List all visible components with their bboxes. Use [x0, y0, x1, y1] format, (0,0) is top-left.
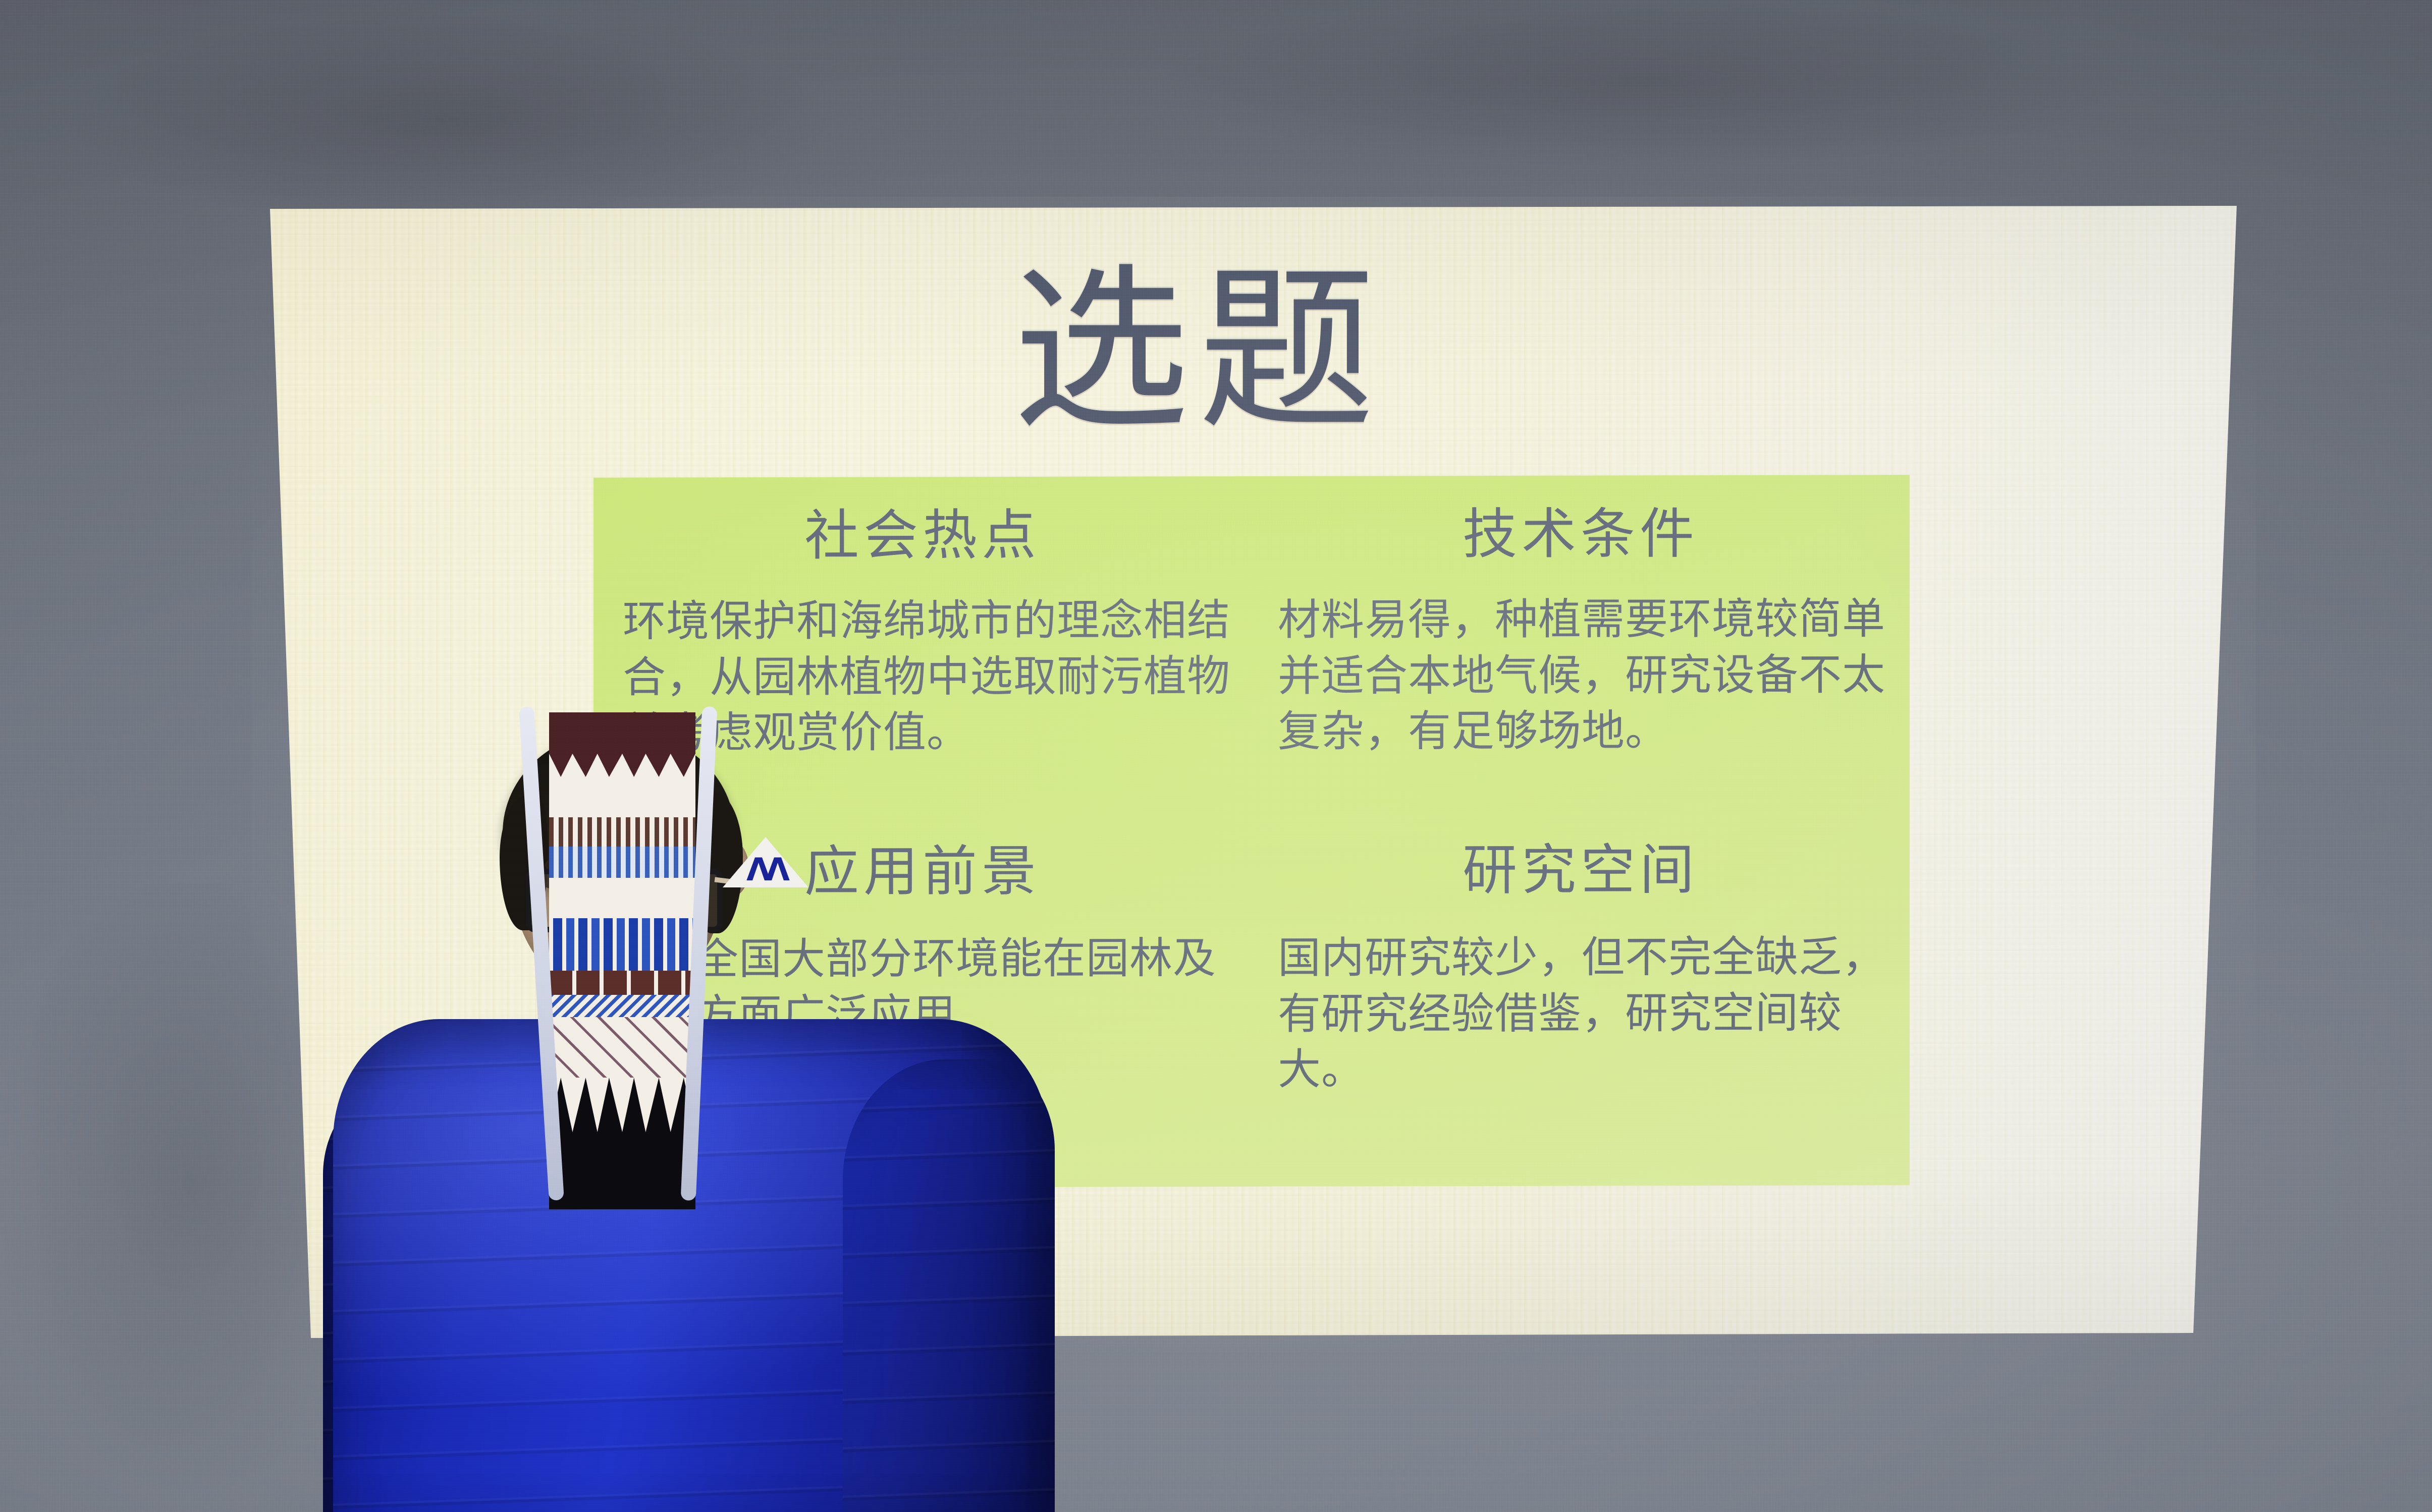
cell-body-technical-conditions: 材料易得，种植需要环境较简单并适合本地气候，研究设备不太复杂，有足够场地。: [1252, 592, 1910, 760]
sweater-band-diamonds: [549, 1017, 695, 1078]
cell-heading-research-space: 研究空间: [1252, 841, 1910, 900]
sweater-band-maroon: [549, 712, 695, 777]
sweater-band-blue-dots: [549, 847, 695, 878]
jacket-sleeve-right: [843, 1059, 1055, 1512]
cell-heading-social-hotspot: 社会热点: [593, 507, 1252, 565]
cell-heading-technical-conditions: 技术条件: [1252, 505, 1910, 564]
cell-research-space: 研究空间 国内研究较少，但不完全缺乏，有研究经验借鉴，研究空间较大。: [1252, 830, 1910, 1187]
sleeve-quilting-right: [843, 1059, 1055, 1512]
sweater-band-bricks: [549, 971, 695, 995]
presenter-person: ΛΛ: [333, 706, 1090, 1512]
sweater-band-cream-2: [549, 878, 695, 918]
sweater-band-black: [549, 1078, 695, 1209]
jacket-logo-icon: ΛΛ: [732, 856, 799, 884]
wall-shadow-top-right: [1161, 0, 2120, 166]
wall-shadow-top-left: [71, 15, 828, 227]
cell-technical-conditions: 技术条件 材料易得，种植需要环境较简单并适合本地气候，研究设备不太复杂，有足够场…: [1252, 475, 1910, 831]
sweater-band-brown-dots: [549, 817, 695, 847]
presentation-photo-scene: 选题 社会热点 环境保护和海绵城市的理念相结合，从园林植物中选取耐污植物并考虑观…: [0, 0, 2432, 1512]
slide-title: 选题: [0, 262, 2414, 439]
sweater-band-triangles: [549, 918, 695, 971]
patterned-sweater: [549, 712, 695, 1209]
sweater-band-zigzag: [549, 995, 695, 1017]
sweater-band-cream-1: [549, 777, 695, 817]
cell-body-research-space: 国内研究较少，但不完全缺乏，有研究经验借鉴，研究空间较大。: [1252, 930, 1910, 1098]
